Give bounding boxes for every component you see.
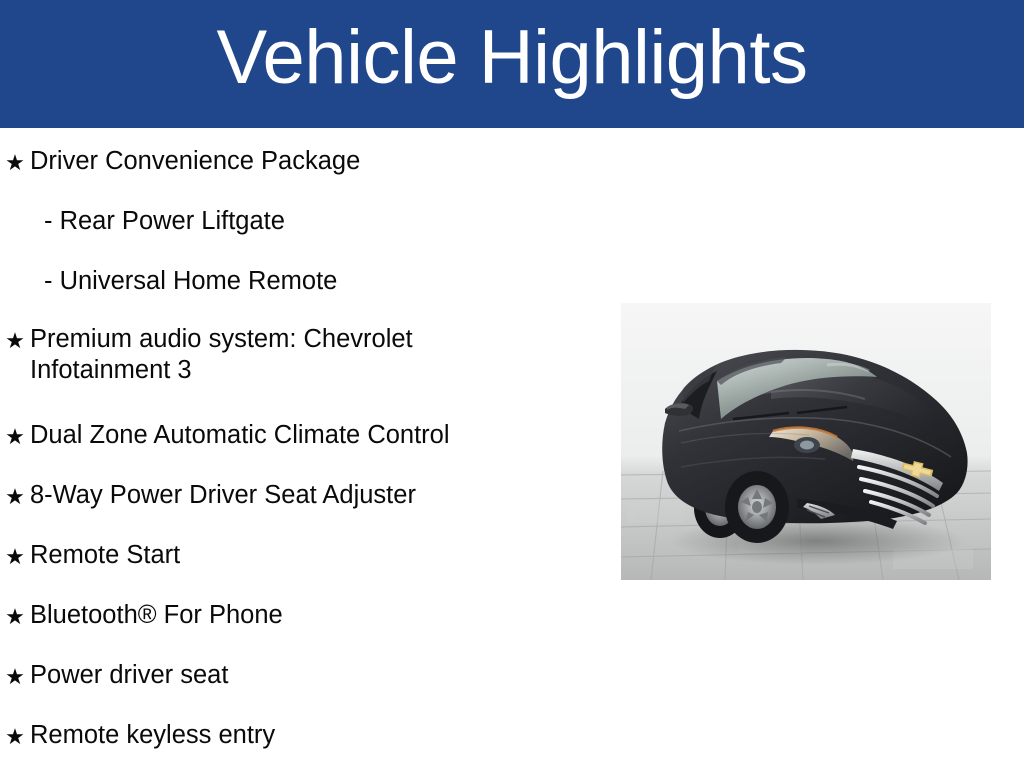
list-item: ★Dual Zone Automatic Climate Control <box>0 420 600 452</box>
star-bullet-icon: ★ <box>0 146 30 178</box>
list-item: ★8-Way Power Driver Seat Adjuster <box>0 480 600 512</box>
list-item: ★Bluetooth® For Phone <box>0 600 600 632</box>
vehicle-photo-illustration <box>621 303 991 580</box>
star-bullet-icon: ★ <box>0 420 30 452</box>
highlight-item-label: 8-Way Power Driver Seat Adjuster <box>30 480 600 511</box>
highlight-item-label: Driver Convenience Package <box>30 146 600 177</box>
star-bullet-icon: ★ <box>0 720 30 752</box>
star-bullet-icon: ★ <box>0 480 30 512</box>
sub-item-label: - Universal Home Remote <box>30 266 600 297</box>
star-bullet-icon: ★ <box>0 540 30 572</box>
page-title: Vehicle Highlights <box>0 11 1024 105</box>
list-item: ★Premium audio system: Chevrolet Infotai… <box>0 324 600 386</box>
highlight-item-label: Bluetooth® For Phone <box>30 600 600 631</box>
list-item: ★Power driver seat <box>0 660 600 692</box>
highlight-item-label: Premium audio system: Chevrolet Infotain… <box>30 324 600 386</box>
vehicle-photo <box>621 303 991 580</box>
list-item: ★Remote keyless entry <box>0 720 600 752</box>
star-bullet-icon: ★ <box>0 324 30 356</box>
highlight-item-label: Remote keyless entry <box>30 720 600 751</box>
slide-header-band: Vehicle Highlights <box>0 0 1024 128</box>
star-bullet-icon: ★ <box>0 660 30 692</box>
star-bullet-icon: ★ <box>0 600 30 632</box>
list-item: ★Remote Start <box>0 540 600 572</box>
highlight-item-label: Remote Start <box>30 540 600 571</box>
highlight-item-label: Dual Zone Automatic Climate Control <box>30 420 600 451</box>
list-item: ★Driver Convenience Package <box>0 146 600 178</box>
list-item: - Rear Power Liftgate <box>0 206 600 237</box>
highlight-item-label: Power driver seat <box>30 660 600 691</box>
vehicle-highlights-list: ★Driver Convenience Package- Rear Power … <box>0 128 600 768</box>
sub-item-label: - Rear Power Liftgate <box>30 206 600 237</box>
list-item: - Universal Home Remote <box>0 266 600 297</box>
